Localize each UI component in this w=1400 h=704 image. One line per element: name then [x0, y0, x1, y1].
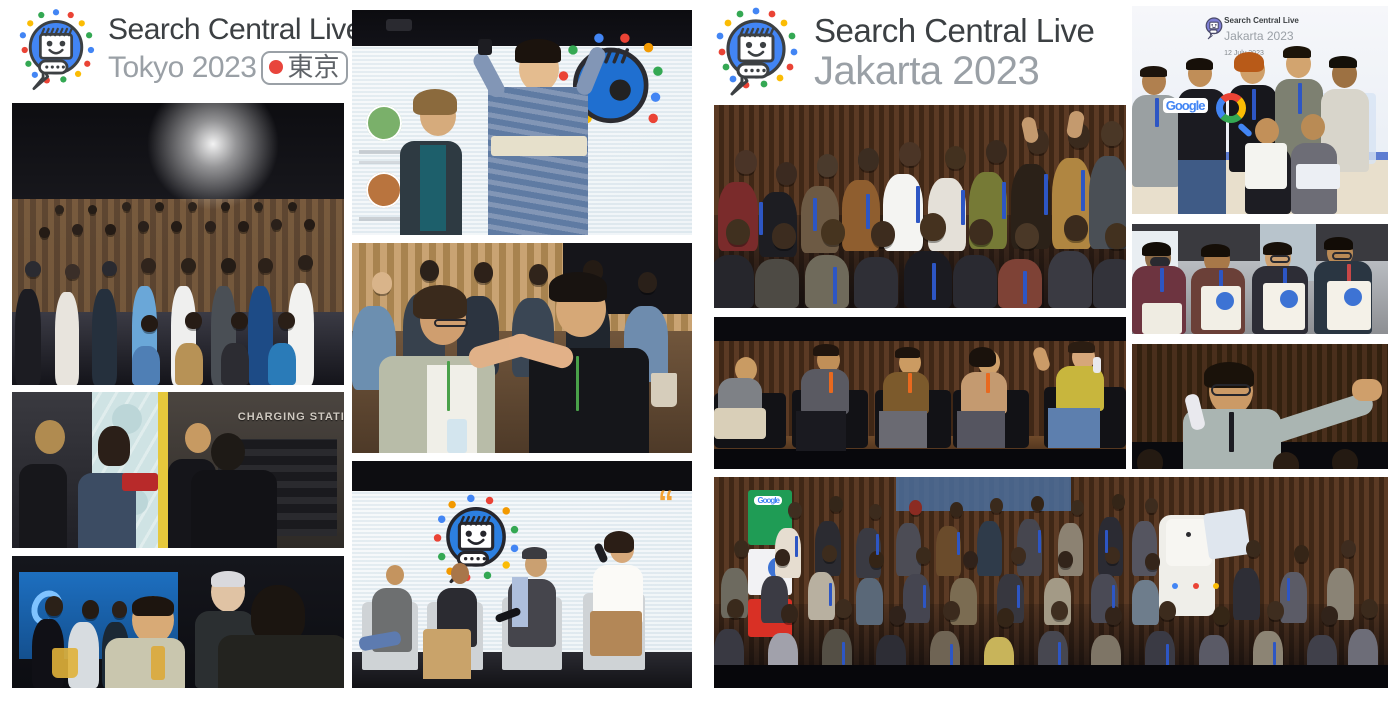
photo-jakarta-full-group: Google [714, 477, 1388, 688]
tokyo-logo-line2: Tokyo 2023 [108, 53, 256, 83]
photo-tokyo-stage-yukata [352, 10, 692, 235]
photo-jakarta-audience-question [1132, 344, 1388, 469]
google-word-prop: Google [1163, 98, 1208, 113]
tokyo-badge-label: 東京 [287, 54, 339, 81]
charging-station-sign: CHARGING STATION [238, 411, 344, 423]
googlebot-mascot-icon [706, 2, 806, 102]
quote-decoration-icon: “ [658, 484, 674, 521]
photowall-headline-line2: Jakarta 2023 [1224, 29, 1293, 43]
japan-flag-dot-icon [269, 60, 283, 74]
photo-collage-board: Search Central Live Tokyo 2023 東京 [0, 0, 1400, 704]
google-banner-prop: Google [754, 496, 782, 505]
photo-tokyo-heart-hands [352, 243, 692, 453]
photo-tokyo-reception-drinks [12, 556, 344, 688]
photo-jakarta-panel-stage [714, 317, 1126, 469]
photo-jakarta-audience-waving [714, 105, 1126, 308]
tokyo-logo-line1: Search Central Live [108, 15, 362, 45]
photo-jakarta-photowall-group: Search Central Live Jakarta 2023 12 July… [1132, 6, 1388, 214]
googlebot-mascot-icon [10, 4, 102, 96]
jakarta-logo-line1: Search Central Live [814, 14, 1094, 47]
photo-jakarta-tote-bags [1132, 224, 1388, 334]
photo-tokyo-audience-group [12, 103, 344, 385]
tokyo-japan-badge: 東京 [261, 51, 348, 85]
photowall-headline-line1: Search Central Live [1224, 16, 1299, 25]
photo-tokyo-panel-stage: “ [352, 461, 692, 688]
photo-tokyo-networking-charging: CHARGING STATION [12, 392, 344, 548]
jakarta-logo-line2: Jakarta 2023 [814, 51, 1094, 91]
jakarta-event-logo: Search Central Live Jakarta 2023 [706, 2, 1094, 102]
tokyo-event-logo: Search Central Live Tokyo 2023 東京 [10, 4, 362, 96]
